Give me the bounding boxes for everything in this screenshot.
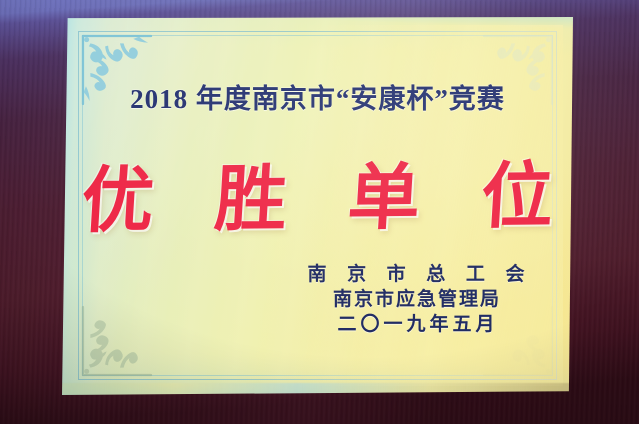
plaque-headline: 优 胜 单 位 — [60, 159, 576, 236]
plate-bottom-edge-highlight — [62, 383, 573, 395]
plaque-signature-block: 南 京 市 总 工 会 南京市应急管理局 二〇一九年五月 — [281, 262, 551, 337]
plaque-title: 2018 年度南京市“安康杯”竞赛 — [62, 77, 573, 116]
signature-date: 二〇一九年五月 — [281, 312, 551, 337]
corner-flourish-bottom-left-icon — [80, 304, 154, 378]
signature-organization-primary: 南 京 市 总 工 会 — [281, 262, 551, 287]
signature-organization-secondary: 南京市应急管理局 — [281, 287, 551, 312]
plaque-photograph: 2018 年度南京市“安康杯”竞赛 优 胜 单 位 南 京 市 总 工 会 南京… — [0, 0, 639, 424]
award-plaque-face: 2018 年度南京市“安康杯”竞赛 优 胜 单 位 南 京 市 总 工 会 南京… — [62, 17, 573, 395]
